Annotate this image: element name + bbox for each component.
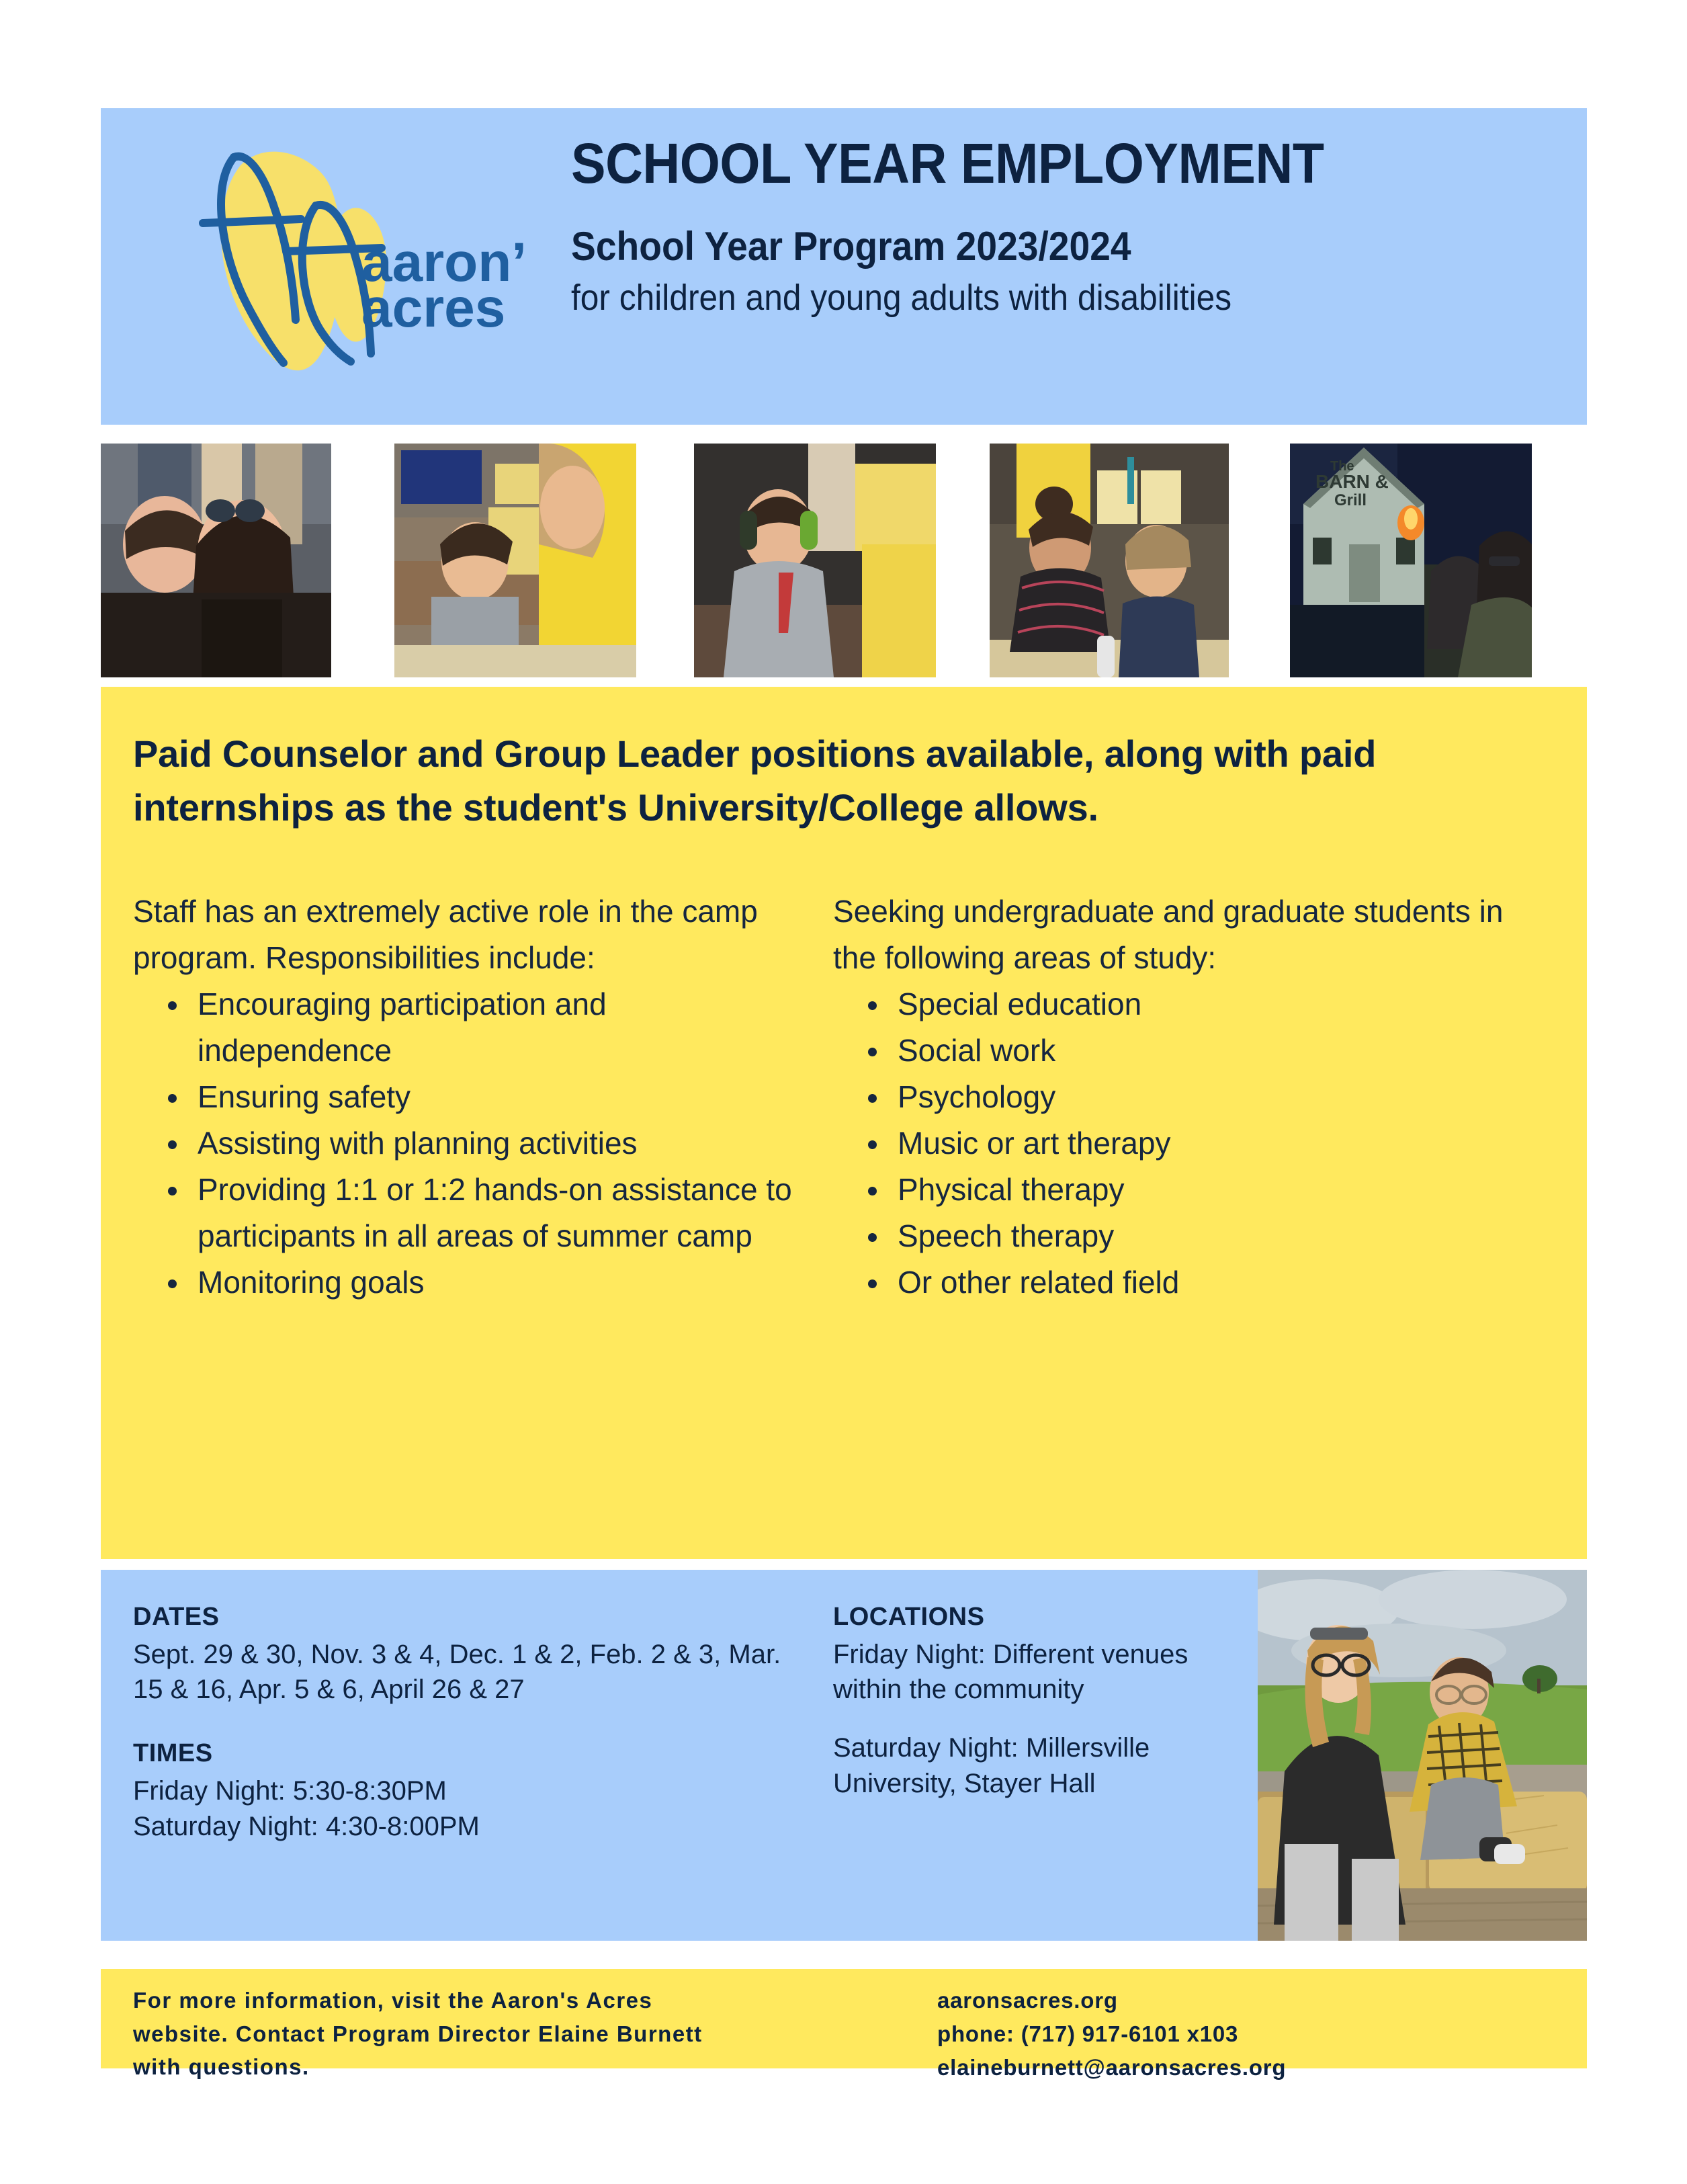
dates-times-column: DATES Sept. 29 & 30, Nov. 3 & 4, Dec. 1 … — [133, 1602, 805, 1844]
photo-strip: The BARN & Grill — [101, 444, 1587, 677]
responsibilities-column: Staff has an extremely active role in th… — [133, 888, 805, 1306]
dates-value: Sept. 29 & 30, Nov. 3 & 4, Dec. 1 & 2, F… — [133, 1637, 805, 1708]
photo-hay-bales — [1258, 1570, 1587, 1941]
svg-text:BARN &: BARN & — [1315, 471, 1389, 492]
photo-3 — [694, 444, 936, 677]
list-item: Speech therapy — [898, 1213, 1532, 1259]
locations-column: LOCATIONS Friday Night: Different venues… — [833, 1602, 1223, 1802]
footer-email[interactable]: elaineburnett@aaronsacres.org — [937, 2051, 1542, 2085]
list-item: Or other related field — [898, 1259, 1532, 1306]
list-item: Physical therapy — [898, 1167, 1532, 1213]
areas-of-study-list: Special education Social work Psychology… — [833, 981, 1532, 1306]
list-item: Encouraging participation and independen… — [198, 981, 805, 1074]
photo-4 — [990, 444, 1229, 677]
footer-website[interactable]: aaronsacres.org — [937, 1984, 1542, 2017]
locations-saturday: Saturday Night: Millersville University,… — [833, 1730, 1223, 1802]
aarons-acres-logo: aaron’s acres — [161, 125, 524, 394]
footer-note: For more information, visit the Aaron's … — [133, 1984, 738, 2084]
locations-friday: Friday Night: Different venues within th… — [833, 1637, 1223, 1708]
header-text-block: SCHOOL YEAR EMPLOYMENT School Year Progr… — [571, 135, 1559, 317]
list-item: Psychology — [898, 1074, 1532, 1120]
list-item: Special education — [898, 981, 1532, 1027]
times-saturday: Saturday Night: 4:30-8:00PM — [133, 1809, 805, 1845]
page-tagline: for children and young adults with disab… — [571, 279, 1479, 317]
footer-phone[interactable]: phone: (717) 917-6101 x103 — [937, 2017, 1542, 2051]
list-item: Assisting with planning activities — [198, 1120, 805, 1167]
photo-2 — [394, 444, 636, 677]
lead-heading: Paid Counselor and Group Leader position… — [133, 727, 1551, 834]
list-item: Music or art therapy — [898, 1120, 1532, 1167]
list-item: Monitoring goals — [198, 1259, 805, 1306]
flyer-page: aaron’s acres SCHOOL YEAR EMPLOYMENT Sch… — [0, 0, 1687, 2184]
footer-contact: aaronsacres.org phone: (717) 917-6101 x1… — [937, 1984, 1542, 2085]
info-blue-section: DATES Sept. 29 & 30, Nov. 3 & 4, Dec. 1 … — [101, 1570, 1587, 1941]
header-band: aaron’s acres SCHOOL YEAR EMPLOYMENT Sch… — [101, 108, 1587, 425]
areas-of-study-column: Seeking undergraduate and graduate stude… — [833, 888, 1532, 1306]
responsibilities-intro: Staff has an extremely active role in th… — [133, 888, 805, 981]
areas-of-study-intro: Seeking undergraduate and graduate stude… — [833, 888, 1532, 981]
times-friday: Friday Night: 5:30-8:30PM — [133, 1773, 805, 1809]
times-heading: TIMES — [133, 1738, 805, 1769]
main-yellow-section: Paid Counselor and Group Leader position… — [101, 687, 1587, 1559]
list-item: Providing 1:1 or 1:2 hands-on assistance… — [198, 1167, 805, 1259]
footer-yellow-section: For more information, visit the Aaron's … — [101, 1969, 1587, 2068]
list-item: Social work — [898, 1027, 1532, 1074]
dates-heading: DATES — [133, 1602, 805, 1633]
locations-heading: LOCATIONS — [833, 1602, 1223, 1633]
photo-1 — [101, 444, 331, 677]
svg-text:Grill: Grill — [1334, 491, 1367, 509]
photo-5: The BARN & Grill — [1290, 444, 1532, 677]
page-subtitle: School Year Program 2023/2024 — [571, 226, 1479, 267]
responsibilities-list: Encouraging participation and independen… — [133, 981, 805, 1306]
list-item: Ensuring safety — [198, 1074, 805, 1120]
page-title: SCHOOL YEAR EMPLOYMENT — [571, 135, 1479, 192]
logo-wordmark-line2: acres — [361, 278, 505, 339]
